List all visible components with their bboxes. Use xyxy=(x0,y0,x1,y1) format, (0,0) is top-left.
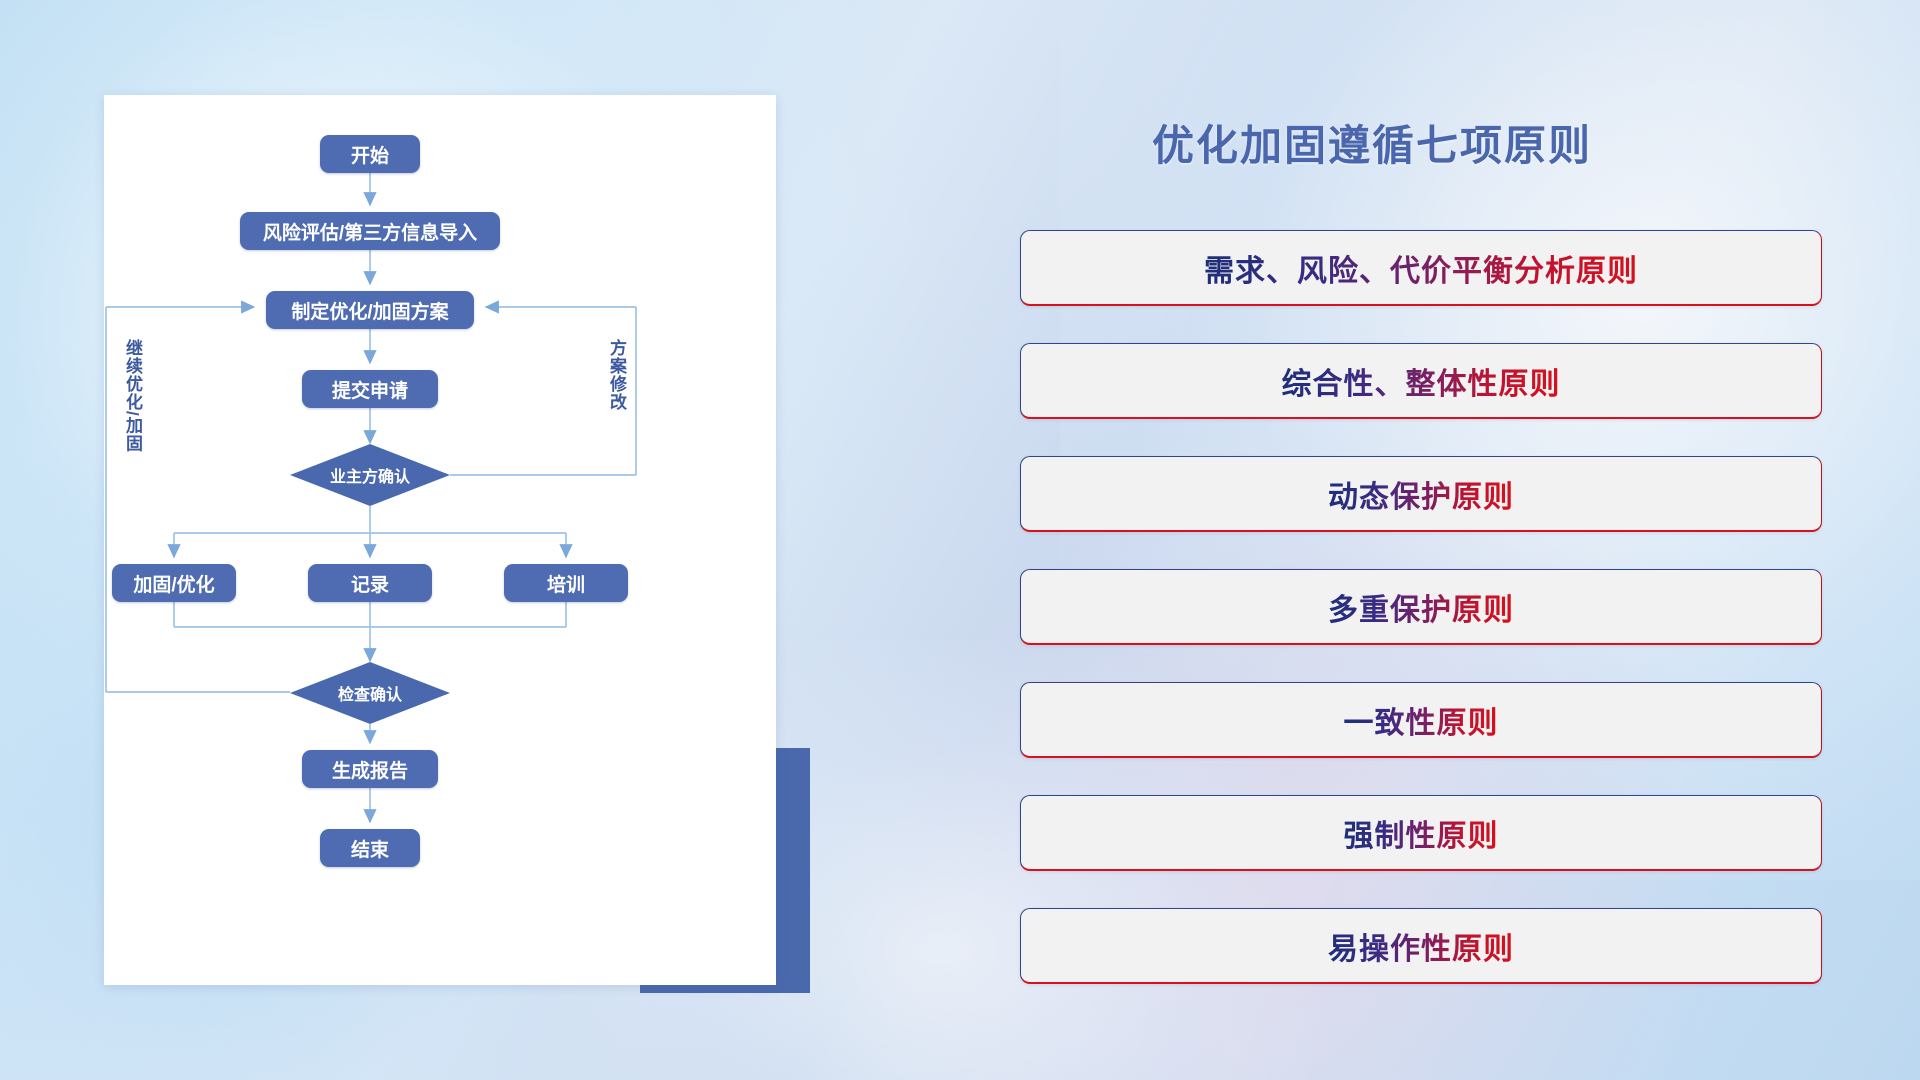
panel-title: 优化加固遵循七项原则 xyxy=(1152,112,1592,173)
principle-item[interactable]: 需求、风险、代价平衡分析原则 xyxy=(1020,230,1822,306)
flow-node-submit[interactable]: 提交申请 xyxy=(302,370,438,408)
principle-label: 强制性原则 xyxy=(1344,811,1499,855)
principle-label: 易操作性原则 xyxy=(1328,924,1514,968)
principle-label: 一致性原则 xyxy=(1344,698,1499,742)
principle-label: 动态保护原则 xyxy=(1328,472,1514,516)
principle-item[interactable]: 动态保护原则 xyxy=(1020,456,1822,532)
flow-node-reinforce-label: 加固/优化 xyxy=(133,570,214,597)
principle-item[interactable]: 易操作性原则 xyxy=(1020,908,1822,984)
flow-node-report[interactable]: 生成报告 xyxy=(302,750,438,788)
flow-node-plan[interactable]: 制定优化/加固方案 xyxy=(266,291,474,329)
flow-node-plan-label: 制定优化/加固方案 xyxy=(291,297,448,324)
flow-node-owner-confirm-label: 业主方确认 xyxy=(290,444,450,506)
flow-node-risk-assessment[interactable]: 风险评估/第三方信息导入 xyxy=(240,212,500,250)
principle-item[interactable]: 多重保护原则 xyxy=(1020,569,1822,645)
flow-edge-label-plan-revision: 方案修改 xyxy=(604,339,629,411)
flow-node-risk-assessment-label: 风险评估/第三方信息导入 xyxy=(263,218,477,245)
flow-node-owner-confirm[interactable]: 业主方确认 xyxy=(290,444,450,506)
flow-node-training[interactable]: 培训 xyxy=(504,564,628,602)
flow-node-check-confirm[interactable]: 检查确认 xyxy=(290,662,450,724)
principle-label: 综合性、整体性原则 xyxy=(1282,359,1561,403)
principle-item[interactable]: 一致性原则 xyxy=(1020,682,1822,758)
flow-node-submit-label: 提交申请 xyxy=(332,376,408,403)
flow-node-report-label: 生成报告 xyxy=(332,756,408,783)
flowchart-card: 开始 风险评估/第三方信息导入 制定优化/加固方案 提交申请 业主方确认 加固/… xyxy=(104,95,776,985)
flow-node-end-label: 结束 xyxy=(351,835,389,862)
principles-list: 需求、风险、代价平衡分析原则 综合性、整体性原则 动态保护原则 多重保护原则 一… xyxy=(1020,230,1820,1021)
slide-canvas: 开始 风险评估/第三方信息导入 制定优化/加固方案 提交申请 业主方确认 加固/… xyxy=(0,0,1920,1080)
principle-item[interactable]: 综合性、整体性原则 xyxy=(1020,343,1822,419)
principles-panel: 优化加固遵循七项原则 需求、风险、代价平衡分析原则 综合性、整体性原则 动态保护… xyxy=(1020,90,1850,1010)
principle-label: 需求、风险、代价平衡分析原则 xyxy=(1204,246,1638,290)
flow-node-start-label: 开始 xyxy=(351,141,389,168)
flow-node-training-label: 培训 xyxy=(547,570,585,597)
principle-label: 多重保护原则 xyxy=(1328,585,1514,629)
flow-node-record-label: 记录 xyxy=(351,570,389,597)
flow-node-end[interactable]: 结束 xyxy=(320,829,420,867)
flow-node-reinforce[interactable]: 加固/优化 xyxy=(112,564,236,602)
principle-item[interactable]: 强制性原则 xyxy=(1020,795,1822,871)
flow-edge-label-continue-optimize: 继续优化/加固 xyxy=(120,339,145,453)
flow-node-start[interactable]: 开始 xyxy=(320,135,420,173)
flow-node-record[interactable]: 记录 xyxy=(308,564,432,602)
flow-node-check-confirm-label: 检查确认 xyxy=(290,662,450,724)
